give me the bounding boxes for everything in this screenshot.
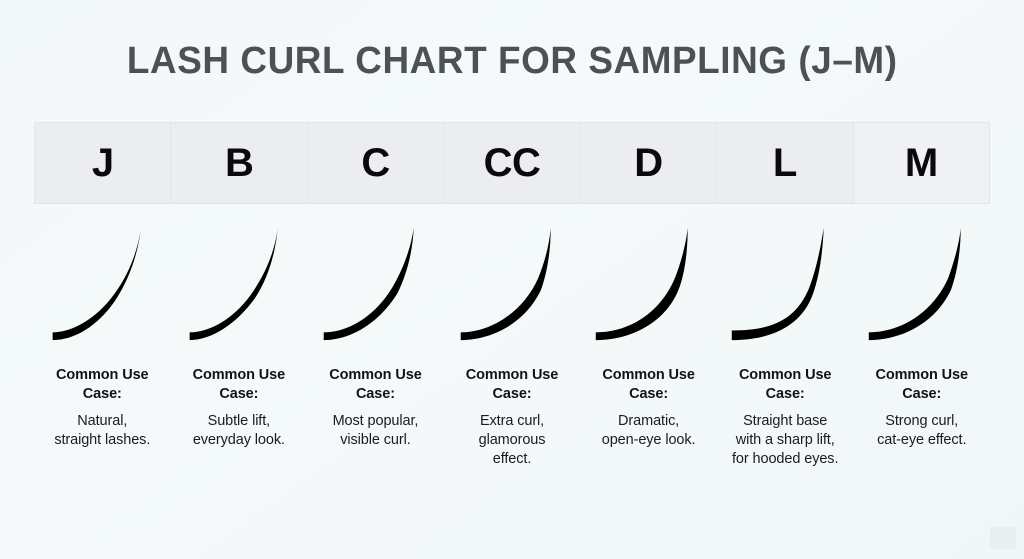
header-cell-j: J — [35, 123, 171, 203]
curl-letter-cc: CC — [484, 143, 541, 183]
caption-row: Common Use Case:Natural, straight lashes… — [34, 344, 990, 559]
header-cell-l: L — [717, 123, 853, 203]
lash-cell-j — [34, 220, 171, 344]
curl-letter-l: L — [773, 143, 797, 183]
caption-body-m: Strong curl, cat-eye effect. — [859, 412, 984, 450]
lash-cell-cc — [444, 220, 581, 344]
caption-heading-cc: Common Use Case: — [450, 366, 575, 403]
caption-body-c: Most popular, visible curl. — [313, 412, 438, 450]
lash-curl-icon-c — [316, 224, 434, 344]
lash-illustration-row — [34, 204, 990, 344]
header-cell-d: D — [581, 123, 717, 203]
lash-cell-d — [580, 220, 717, 344]
header-cell-b: B — [171, 123, 307, 203]
caption-cell-c: Common Use Case:Most popular, visible cu… — [307, 366, 444, 559]
caption-cell-l: Common Use Case:Straight base with a sha… — [717, 366, 854, 559]
lash-curl-icon-l — [726, 224, 844, 344]
lash-body-l — [732, 228, 824, 340]
curl-letter-d: D — [634, 143, 662, 183]
caption-body-l: Straight base with a sharp lift, for hoo… — [723, 412, 848, 469]
header-cell-m: M — [854, 123, 990, 203]
caption-heading-b: Common Use Case: — [177, 366, 302, 403]
lash-curl-icon-b — [180, 224, 298, 344]
lash-body-m — [869, 228, 961, 340]
caption-cell-m: Common Use Case:Strong curl, cat-eye eff… — [853, 366, 990, 559]
caption-cell-d: Common Use Case:Dramatic, open-eye look. — [580, 366, 717, 559]
header-cell-cc: CC — [444, 123, 580, 203]
caption-body-b: Subtle lift, everyday look. — [177, 412, 302, 450]
caption-heading-c: Common Use Case: — [313, 366, 438, 403]
curl-letter-m: M — [905, 143, 938, 183]
caption-heading-l: Common Use Case: — [723, 366, 848, 403]
lash-body-cc — [461, 228, 551, 340]
caption-cell-b: Common Use Case:Subtle lift, everyday lo… — [171, 366, 308, 559]
caption-cell-cc: Common Use Case:Extra curl, glamorous ef… — [444, 366, 581, 559]
caption-heading-m: Common Use Case: — [859, 366, 984, 403]
lash-curl-icon-j — [43, 224, 161, 344]
caption-body-d: Dramatic, open-eye look. — [586, 412, 711, 450]
watermark-badge — [990, 527, 1016, 549]
lash-curl-icon-m — [863, 224, 981, 344]
header-cell-c: C — [308, 123, 444, 203]
caption-heading-d: Common Use Case: — [586, 366, 711, 403]
caption-heading-j: Common Use Case: — [40, 366, 165, 403]
lash-cell-c — [307, 220, 444, 344]
caption-body-j: Natural, straight lashes. — [40, 412, 165, 450]
curl-letter-b: B — [225, 143, 253, 183]
curl-letter-c: C — [361, 143, 389, 183]
lash-curl-icon-cc — [453, 224, 571, 344]
lash-body-j — [53, 230, 141, 340]
page-title: LASH CURL CHART FOR SAMPLING (J–M) — [127, 40, 898, 83]
lash-body-c — [324, 228, 414, 340]
title-container: LASH CURL CHART FOR SAMPLING (J–M) — [0, 0, 1024, 122]
lash-body-d — [595, 228, 687, 340]
lash-curl-chart: LASH CURL CHART FOR SAMPLING (J–M) J B C… — [0, 0, 1024, 559]
lash-body-b — [190, 228, 278, 340]
caption-body-cc: Extra curl, glamorous effect. — [450, 412, 575, 469]
curl-letter-j: J — [92, 143, 114, 183]
lash-cell-l — [717, 220, 854, 344]
caption-cell-j: Common Use Case:Natural, straight lashes… — [34, 366, 171, 559]
lash-curl-icon-d — [590, 224, 708, 344]
lash-cell-b — [171, 220, 308, 344]
lash-cell-m — [853, 220, 990, 344]
curl-header-row: J B C CC D L M — [34, 122, 990, 204]
